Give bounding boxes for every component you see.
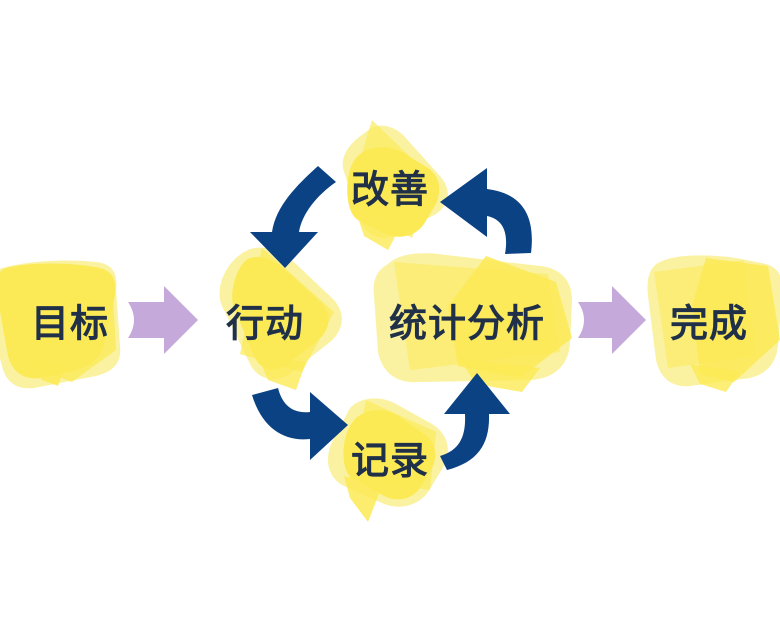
- node-shape-improve[interactable]: [343, 120, 448, 250]
- node-shape-goal[interactable]: [0, 261, 120, 389]
- arrow-analyze-to-improve[interactable]: [440, 168, 532, 254]
- blob-layer-accent: [394, 262, 560, 370]
- blob-tail: [258, 356, 306, 390]
- diagram-canvas: 目标 行动 改善 统计分析 记录 完成: [0, 0, 780, 640]
- arrow-goal-to-action[interactable]: [128, 286, 198, 354]
- blob-layer-accent: [654, 260, 756, 368]
- node-shape-analyze[interactable]: [374, 253, 572, 392]
- node-shape-done[interactable]: [648, 255, 780, 392]
- node-shape-record[interactable]: [328, 398, 448, 522]
- node-shape-action[interactable]: [220, 248, 342, 390]
- diagram-svg: [0, 0, 780, 640]
- arrow-analyze-to-done[interactable]: [578, 286, 646, 354]
